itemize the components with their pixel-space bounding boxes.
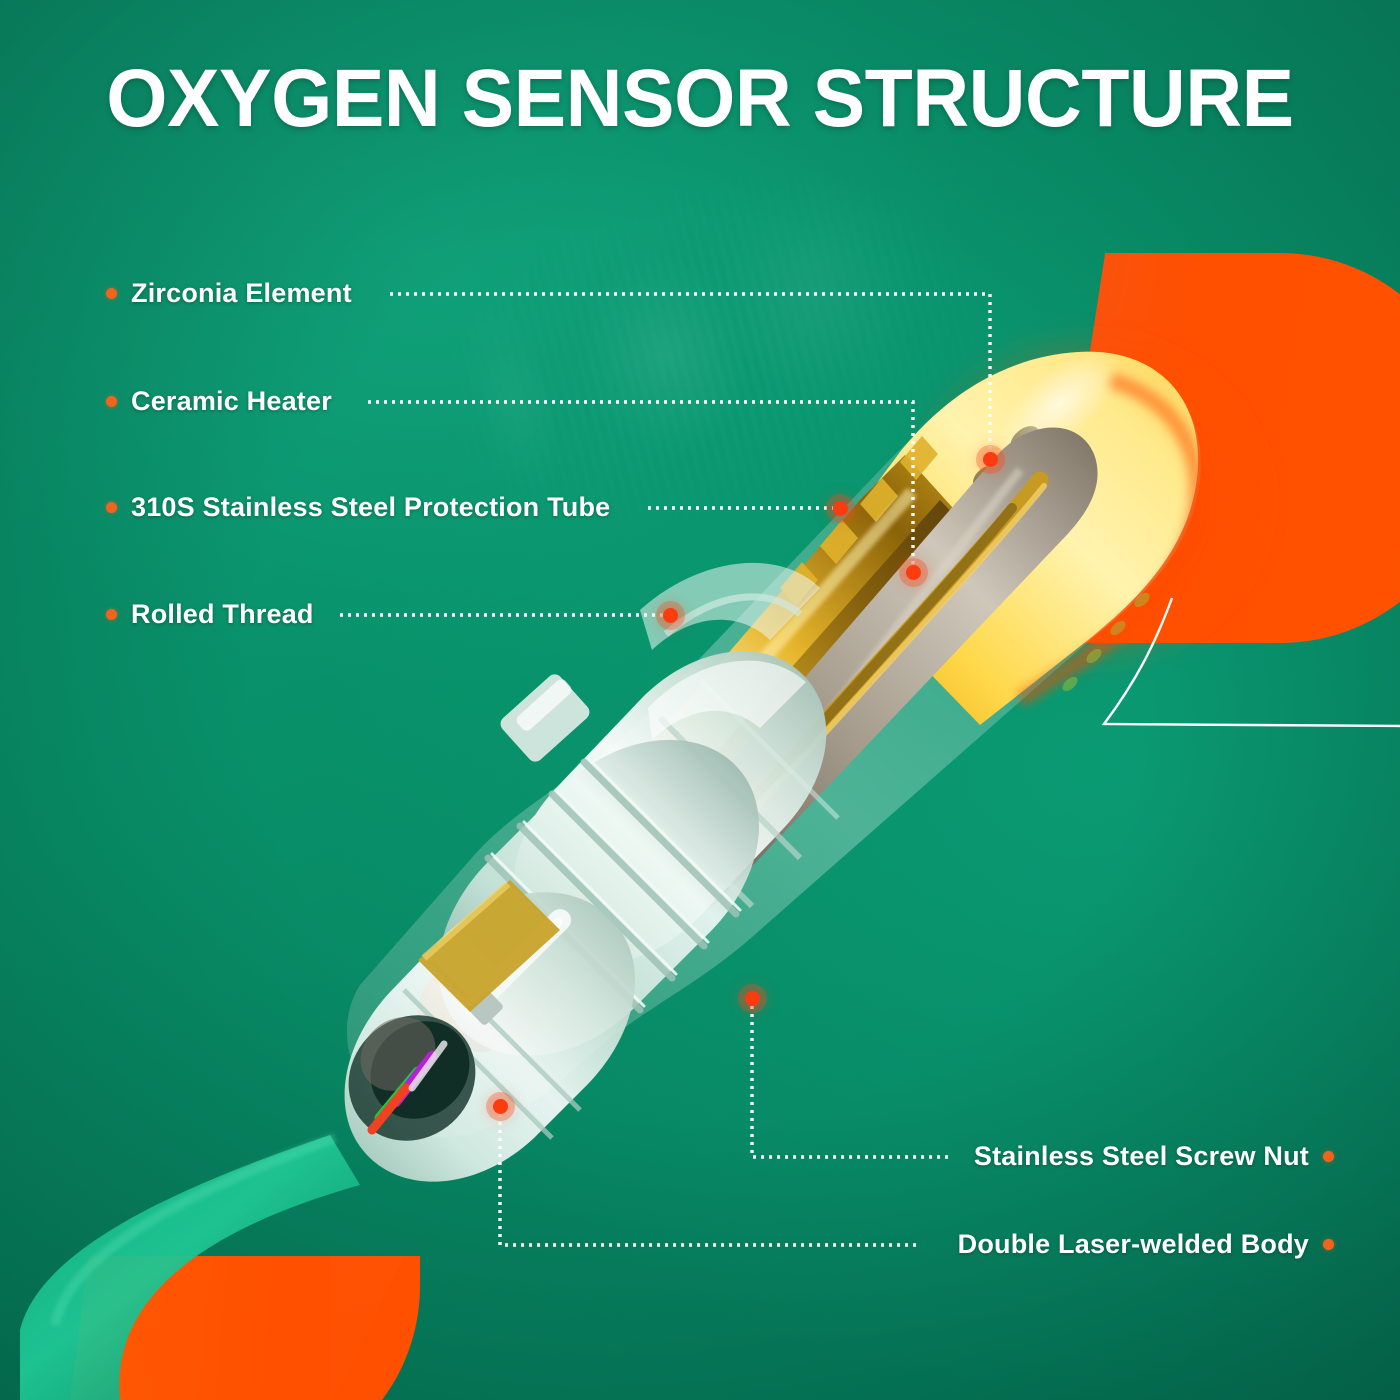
callout-marker-dot-icon: [906, 565, 921, 580]
callout-label-laser-welded-body: Double Laser-welded Body: [958, 1229, 1334, 1260]
callout-label-text: Rolled Thread: [131, 599, 314, 630]
callout-label-text: Ceramic Heater: [131, 386, 332, 417]
bullet-dot-icon: [106, 288, 117, 299]
callout-label-protection-tube: 310S Stainless Steel Protection Tube: [106, 492, 610, 523]
callout-label-screw-nut: Stainless Steel Screw Nut: [974, 1141, 1334, 1172]
bullet-dot-icon: [106, 609, 117, 620]
bullet-dot-icon: [106, 396, 117, 407]
infographic-poster: OXYGEN SENSOR STRUCTURE Zirconia Element…: [0, 0, 1400, 1400]
callout-label-text: Double Laser-welded Body: [958, 1229, 1309, 1260]
callout-label-text: Stainless Steel Screw Nut: [974, 1141, 1309, 1172]
callout-label-text: 310S Stainless Steel Protection Tube: [131, 492, 610, 523]
callout-marker-dot-icon: [663, 608, 678, 623]
callout-marker-dot-icon: [493, 1099, 508, 1114]
callout-marker-dot-icon: [983, 452, 998, 467]
page-title: OXYGEN SENSOR STRUCTURE: [28, 52, 1372, 146]
bullet-dot-icon: [106, 502, 117, 513]
callout-label-zirconia-element: Zirconia Element: [106, 278, 352, 309]
callout-label-text: Zirconia Element: [131, 278, 352, 309]
callout-marker-dot-icon: [833, 501, 848, 516]
background-vignette: [0, 0, 1400, 1400]
bullet-dot-icon: [1323, 1151, 1334, 1162]
bullet-dot-icon: [1323, 1239, 1334, 1250]
callout-marker-dot-icon: [745, 991, 760, 1006]
callout-label-rolled-thread: Rolled Thread: [106, 599, 314, 630]
callout-label-ceramic-heater: Ceramic Heater: [106, 386, 332, 417]
